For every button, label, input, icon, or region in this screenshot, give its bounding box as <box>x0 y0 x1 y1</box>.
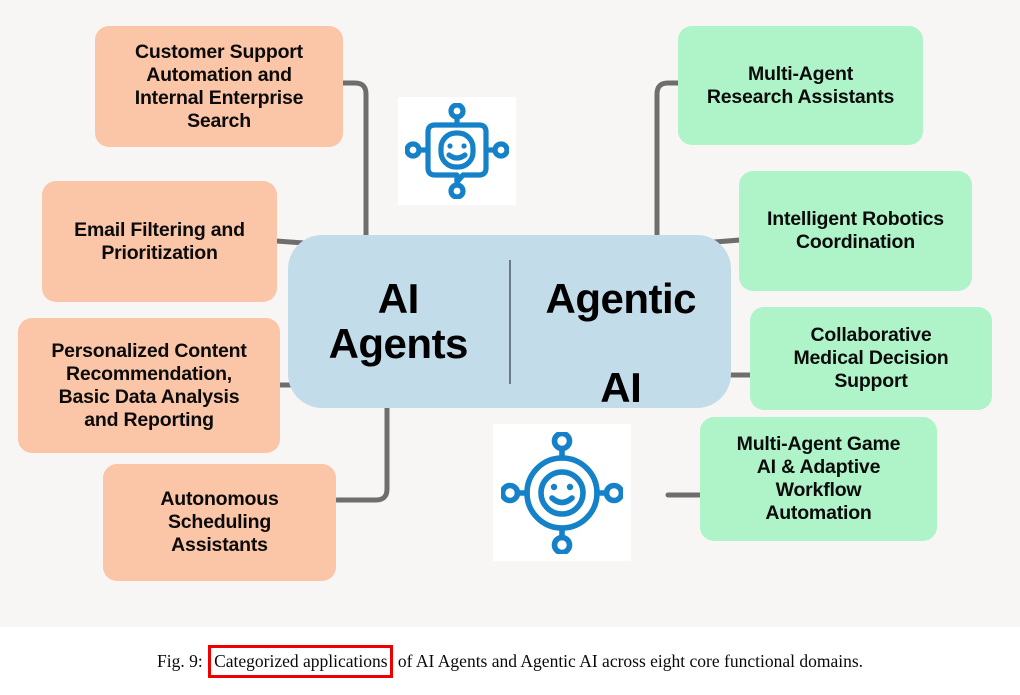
node-label: Email Filtering and Prioritization <box>74 219 245 265</box>
caption-rest: of AI Agents and Agentic AI across eight… <box>398 651 863 671</box>
node-intelligent-robotics[interactable]: Intelligent Robotics Coordination <box>739 171 972 291</box>
agentic-network-icon-tile <box>493 424 631 561</box>
hub-label-line2: AI <box>600 364 641 411</box>
figure-root: Customer Support Automation and Internal… <box>0 0 1020 695</box>
connector-autonomous-scheduling <box>337 403 387 500</box>
central-hub[interactable]: AI Agents Agentic AI <box>288 235 731 408</box>
hub-label-line1: Agentic <box>545 275 696 322</box>
node-collaborative-medical[interactable]: Collaborative Medical Decision Support <box>750 307 992 410</box>
node-multi-agent-game[interactable]: Multi-Agent Game AI & Adaptive Workflow … <box>700 417 937 541</box>
node-personalized-content[interactable]: Personalized Content Recommendation, Bas… <box>18 318 280 453</box>
node-label: Multi-Agent Research Assistants <box>707 63 894 109</box>
chatbot-robot-icon <box>405 103 509 199</box>
connector-customer-support <box>343 83 366 240</box>
hub-label-ai-agents: AI Agents <box>329 277 468 366</box>
node-label: Customer Support Automation and Internal… <box>135 41 304 133</box>
node-email-filtering[interactable]: Email Filtering and Prioritization <box>42 181 277 302</box>
node-label: Intelligent Robotics Coordination <box>767 208 944 254</box>
hub-half-ai-agents: AI Agents <box>288 277 509 366</box>
node-customer-support[interactable]: Customer Support Automation and Internal… <box>95 26 343 147</box>
agentic-network-icon <box>501 432 623 554</box>
hub-label-agentic-ai: Agentic AI <box>545 232 696 410</box>
diagram-canvas: Customer Support Automation and Internal… <box>0 0 1020 627</box>
node-autonomous-scheduling[interactable]: Autonomous Scheduling Assistants <box>103 464 336 581</box>
node-multi-agent-research[interactable]: Multi-Agent Research Assistants <box>678 26 923 145</box>
figure-caption: Fig. 9: Categorized applications of AI A… <box>157 651 863 672</box>
caption-area: Fig. 9: Categorized applications of AI A… <box>0 627 1020 695</box>
node-label: Collaborative Medical Decision Support <box>793 324 948 393</box>
node-label: Personalized Content Recommendation, Bas… <box>51 340 246 432</box>
connector-multi-agent-research <box>657 83 679 240</box>
hub-half-agentic-ai: Agentic AI <box>511 232 732 410</box>
node-label: Multi-Agent Game AI & Adaptive Workflow … <box>737 433 901 525</box>
node-label: Autonomous Scheduling Assistants <box>160 488 278 557</box>
caption-highlight: Categorized applications <box>208 645 392 678</box>
caption-prefix: Fig. 9: <box>157 651 203 671</box>
chatbot-robot-icon-tile <box>398 97 516 205</box>
